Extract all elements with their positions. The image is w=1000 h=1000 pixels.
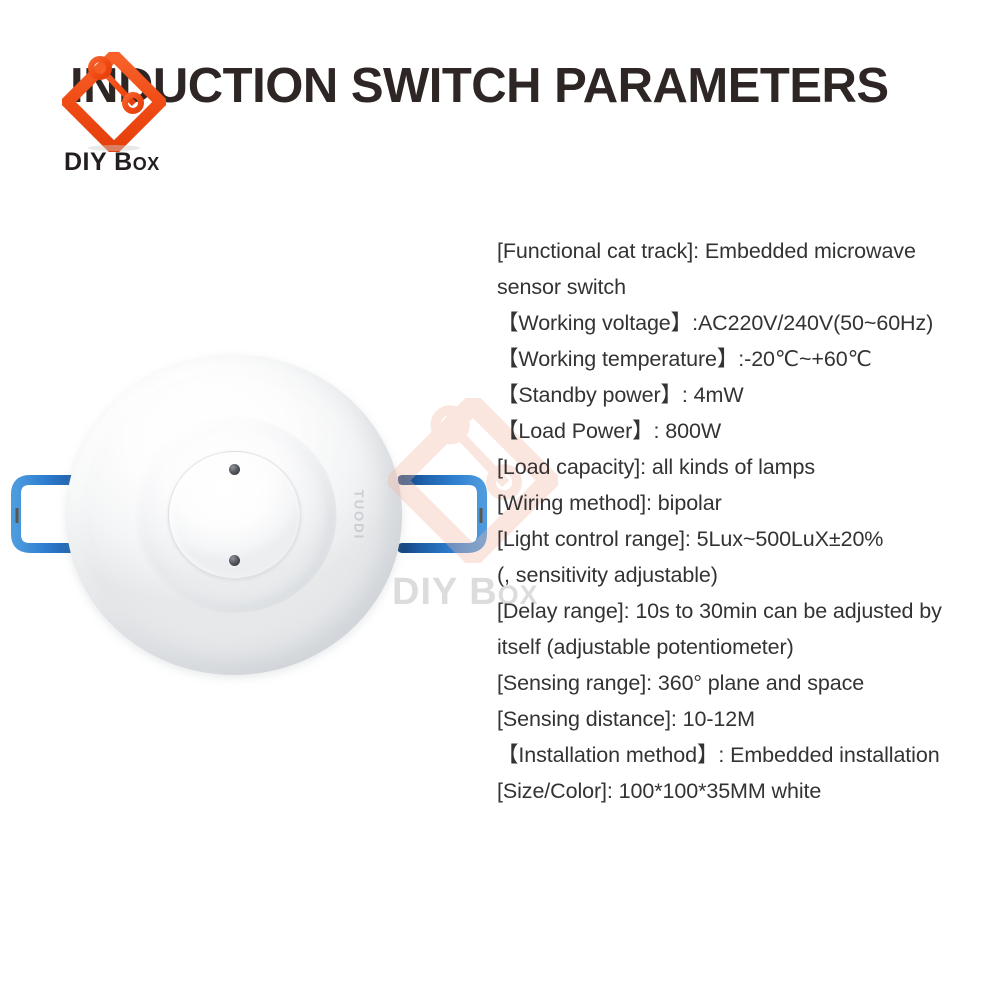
screw-top-icon	[229, 464, 240, 475]
page-header: INDUCTION SWITCH PARAMETERS	[0, 0, 1000, 200]
spec-line: 【Working temperature】:-20℃~+60℃	[497, 341, 989, 377]
spec-line: [Light control range]: 5Lux~500LuX±20%	[497, 521, 989, 557]
screw-bottom-icon	[229, 555, 240, 566]
spec-line: [Load capacity]: all kinds of lamps	[497, 449, 989, 485]
sensor-emboss-label: TUODI	[351, 490, 366, 540]
sensor-dome: TUODI	[66, 355, 402, 675]
sensor-center-disc	[168, 451, 301, 579]
spec-line: 【Standby power】: 4mW	[497, 377, 989, 413]
product-spec-page: INDUCTION SWITCH PARAMETERS	[0, 0, 1000, 1000]
spec-line: [Functional cat track]: Embedded microwa…	[497, 233, 989, 269]
spec-line: [Sensing distance]: 10-12M	[497, 701, 989, 737]
spec-line: [Sensing range]: 360° plane and space	[497, 665, 989, 701]
sensor-middle-ring	[132, 417, 337, 613]
mounting-clip-right-icon	[398, 468, 494, 560]
spec-line: [Wiring method]: bipolar	[497, 485, 989, 521]
logo-wordmark: DIY Box	[64, 150, 160, 175]
spec-line: 【Working voltage】:AC220V/240V(50~60Hz)	[497, 305, 989, 341]
specification-list: [Functional cat track]: Embedded microwa…	[497, 233, 989, 809]
page-title: INDUCTION SWITCH PARAMETERS	[70, 62, 889, 111]
spec-line: sensor switch	[497, 269, 989, 305]
diy-box-logo-icon	[62, 52, 166, 152]
spec-line: 【Load Power】: 800W	[497, 413, 989, 449]
spec-line: (, sensitivity adjustable)	[497, 557, 989, 593]
spec-line: itself (adjustable potentiometer)	[497, 629, 989, 665]
spec-line: [Delay range]: 10s to 30min can be adjus…	[497, 593, 989, 629]
product-photo: TUODI	[0, 345, 500, 685]
brand-logo: DIY Box	[62, 52, 180, 180]
spec-line: 【Installation method】: Embedded installa…	[497, 737, 989, 773]
spec-line: [Size/Color]: 100*100*35MM white	[497, 773, 989, 809]
